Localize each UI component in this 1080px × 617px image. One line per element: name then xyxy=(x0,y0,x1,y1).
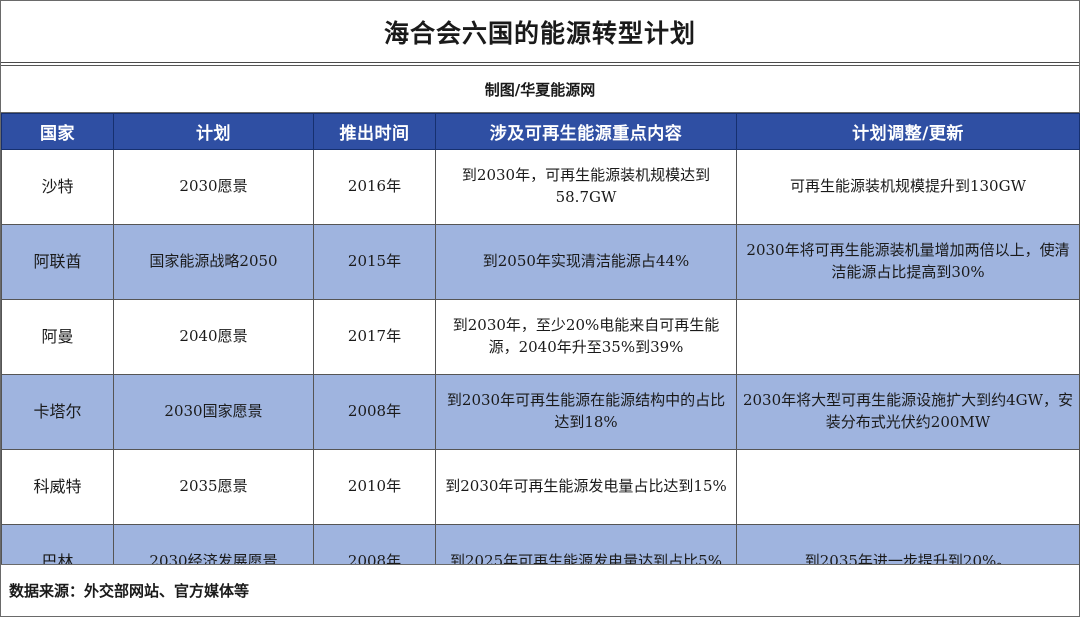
cell-content: 到2030年，至少20%电能来自可再生能源，2040年升至35%到39% xyxy=(436,300,737,375)
table-row: 阿联酋国家能源战略20502015年到2050年实现清洁能源占44%2030年将… xyxy=(2,225,1080,300)
page-title: 海合会六国的能源转型计划 xyxy=(384,14,696,50)
cell-year: 2008年 xyxy=(314,375,436,450)
cell-update: 2030年将大型可再生能源设施扩大到约4GW，安装分布式光伏约200MW xyxy=(737,375,1080,450)
column-header-content: 涉及可再生能源重点内容 xyxy=(436,114,737,150)
cell-update: 2030年将可再生能源装机量增加两倍以上，使清洁能源占比提高到30% xyxy=(737,225,1080,300)
footer-row: 数据来源：外交部网站、官方媒体等 xyxy=(1,564,1079,616)
cell-year: 2010年 xyxy=(314,450,436,525)
header-row: 国家 计划 推出时间 涉及可再生能源重点内容 计划调整/更新 xyxy=(2,114,1080,150)
subtitle-row: 制图/华夏能源网 xyxy=(1,66,1079,113)
cell-country: 阿曼 xyxy=(2,300,114,375)
cell-content: 到2050年实现清洁能源占44% xyxy=(436,225,737,300)
table-container: 国家 计划 推出时间 涉及可再生能源重点内容 计划调整/更新 沙特2030愿景2… xyxy=(1,113,1079,564)
table-body: 沙特2030愿景2016年到2030年，可再生能源装机规模达到58.7GW可再生… xyxy=(2,150,1080,600)
cell-plan: 2040愿景 xyxy=(114,300,314,375)
infographic-table-sheet: 海合会六国的能源转型计划 制图/华夏能源网 国家 计划 推出时间 涉及可再生能源… xyxy=(0,0,1080,617)
cell-plan: 2030国家愿景 xyxy=(114,375,314,450)
cell-plan: 国家能源战略2050 xyxy=(114,225,314,300)
cell-content: 到2030年，可再生能源装机规模达到58.7GW xyxy=(436,150,737,225)
cell-content: 到2030年可再生能源发电量占比达到15% xyxy=(436,450,737,525)
cell-country: 卡塔尔 xyxy=(2,375,114,450)
column-header-country: 国家 xyxy=(2,114,114,150)
cell-year: 2015年 xyxy=(314,225,436,300)
table-row: 阿曼2040愿景2017年到2030年，至少20%电能来自可再生能源，2040年… xyxy=(2,300,1080,375)
cell-year: 2017年 xyxy=(314,300,436,375)
cell-update: 可再生能源装机规模提升到130GW xyxy=(737,150,1080,225)
column-header-plan: 计划 xyxy=(114,114,314,150)
cell-update xyxy=(737,450,1080,525)
title-row: 海合会六国的能源转型计划 xyxy=(1,1,1079,63)
column-header-year: 推出时间 xyxy=(314,114,436,150)
table-row: 卡塔尔2030国家愿景2008年到2030年可再生能源在能源结构中的占比达到18… xyxy=(2,375,1080,450)
table-row: 沙特2030愿景2016年到2030年，可再生能源装机规模达到58.7GW可再生… xyxy=(2,150,1080,225)
cell-content: 到2030年可再生能源在能源结构中的占比达到18% xyxy=(436,375,737,450)
cell-country: 沙特 xyxy=(2,150,114,225)
chart-credit: 制图/华夏能源网 xyxy=(485,79,595,100)
energy-transition-table: 国家 计划 推出时间 涉及可再生能源重点内容 计划调整/更新 沙特2030愿景2… xyxy=(1,113,1080,600)
cell-update xyxy=(737,300,1080,375)
cell-plan: 2035愿景 xyxy=(114,450,314,525)
cell-country: 阿联酋 xyxy=(2,225,114,300)
table-row: 科威特2035愿景2010年到2030年可再生能源发电量占比达到15% xyxy=(2,450,1080,525)
cell-country: 科威特 xyxy=(2,450,114,525)
cell-year: 2016年 xyxy=(314,150,436,225)
column-header-update: 计划调整/更新 xyxy=(737,114,1080,150)
data-source-note: 数据来源：外交部网站、官方媒体等 xyxy=(9,580,249,601)
table-header: 国家 计划 推出时间 涉及可再生能源重点内容 计划调整/更新 xyxy=(2,114,1080,150)
cell-plan: 2030愿景 xyxy=(114,150,314,225)
